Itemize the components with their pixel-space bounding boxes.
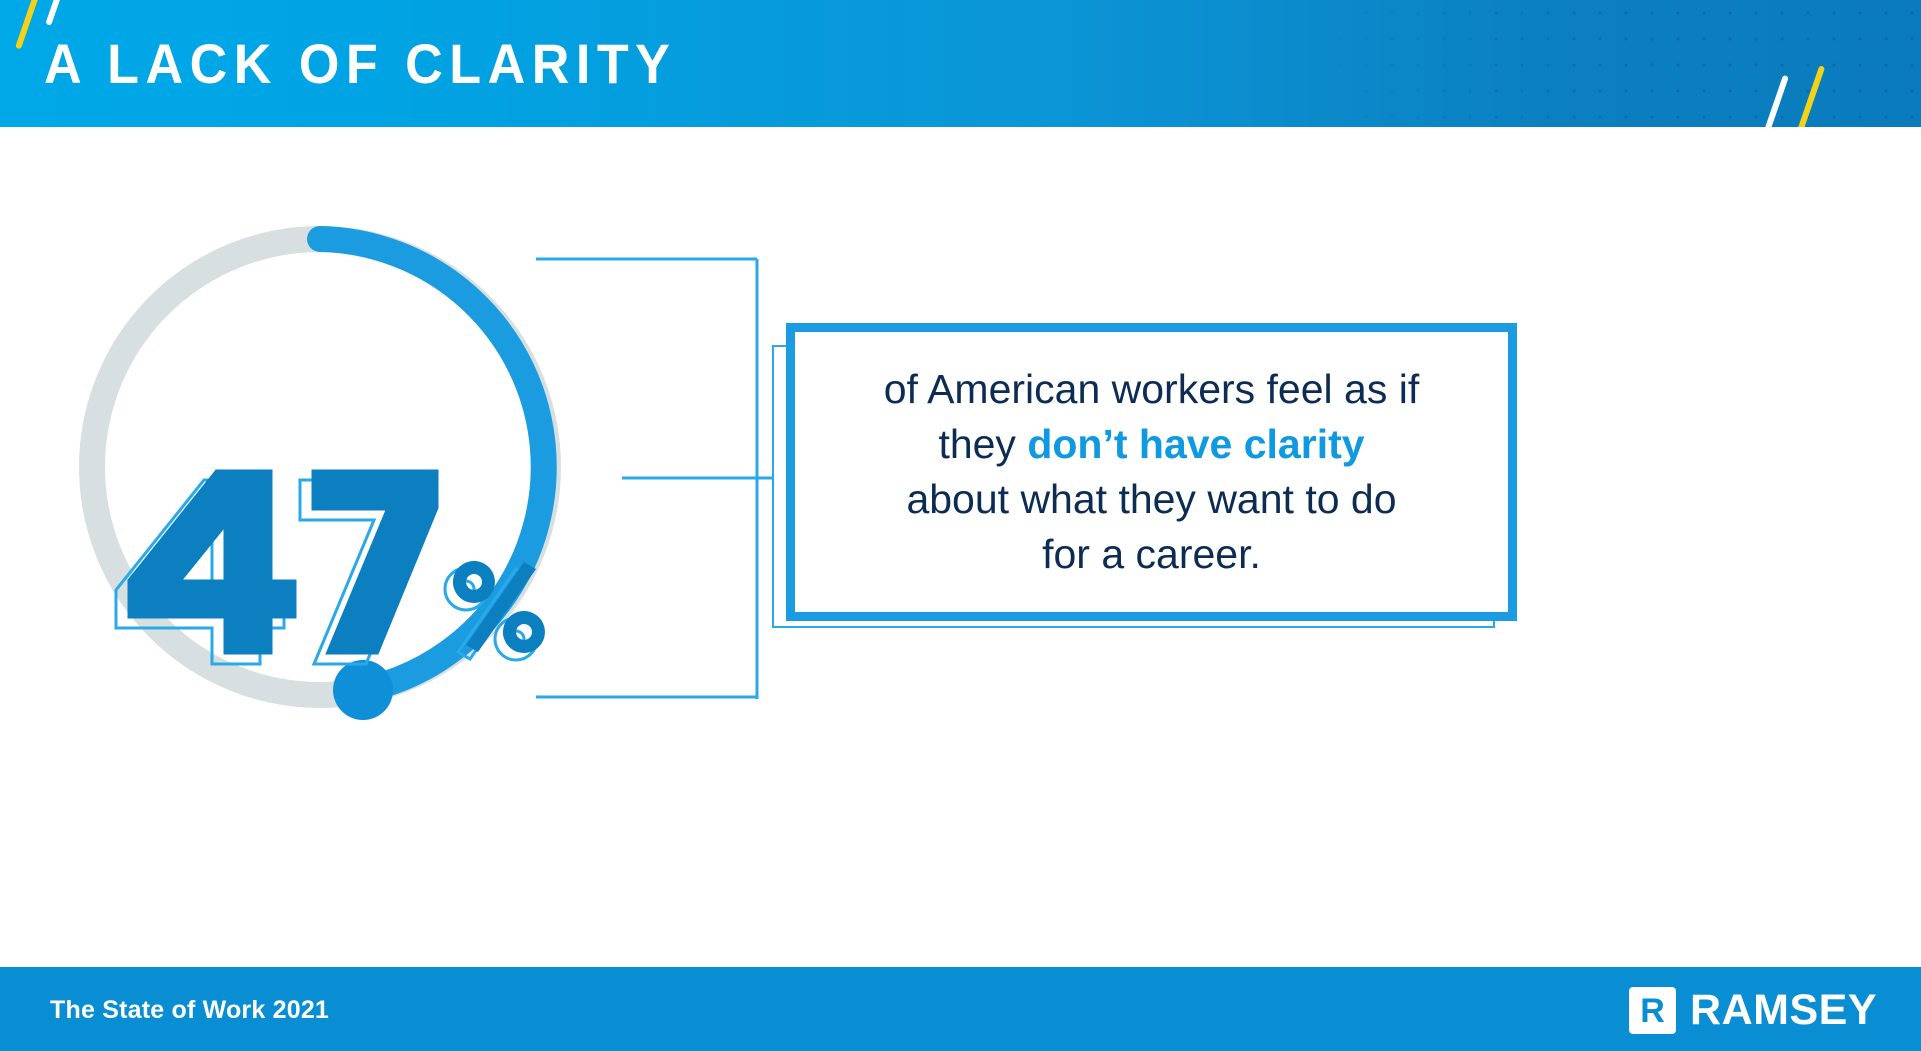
donut-end-dot — [333, 660, 393, 720]
callout-highlight: don’t have clarity — [1027, 421, 1364, 467]
callout-box: of American workers feel as if they don’… — [772, 323, 1517, 628]
page-footer: The State of Work 2021 R RAMSEY — [0, 967, 1921, 1051]
callout-text: of American workers feel as if they don’… — [786, 323, 1517, 621]
header-dot-pattern — [1301, 0, 1921, 127]
source-label: The State of Work 2021 — [50, 996, 329, 1025]
callout-line-2-prefix: they — [938, 421, 1027, 467]
content-stage: of American workers feel as if they don’… — [0, 127, 1921, 967]
stat-value-graphic — [120, 462, 550, 662]
decorative-slash-white-top-left — [45, 0, 64, 26]
decorative-slash-yellow-top-left — [15, 0, 39, 49]
callout-line-1: of American workers feel as if — [884, 366, 1419, 412]
callout-line-3: about what they want to do — [906, 476, 1396, 522]
ramsey-logo-mark-icon: R — [1629, 987, 1676, 1034]
ramsey-logo: R RAMSEY — [1629, 986, 1877, 1035]
page-title: A LACK OF CLARITY — [44, 33, 676, 95]
callout-line-4: for a career. — [1042, 531, 1261, 577]
page-header: A LACK OF CLARITY — [0, 0, 1921, 127]
ramsey-logo-wordmark: RAMSEY — [1690, 986, 1877, 1035]
